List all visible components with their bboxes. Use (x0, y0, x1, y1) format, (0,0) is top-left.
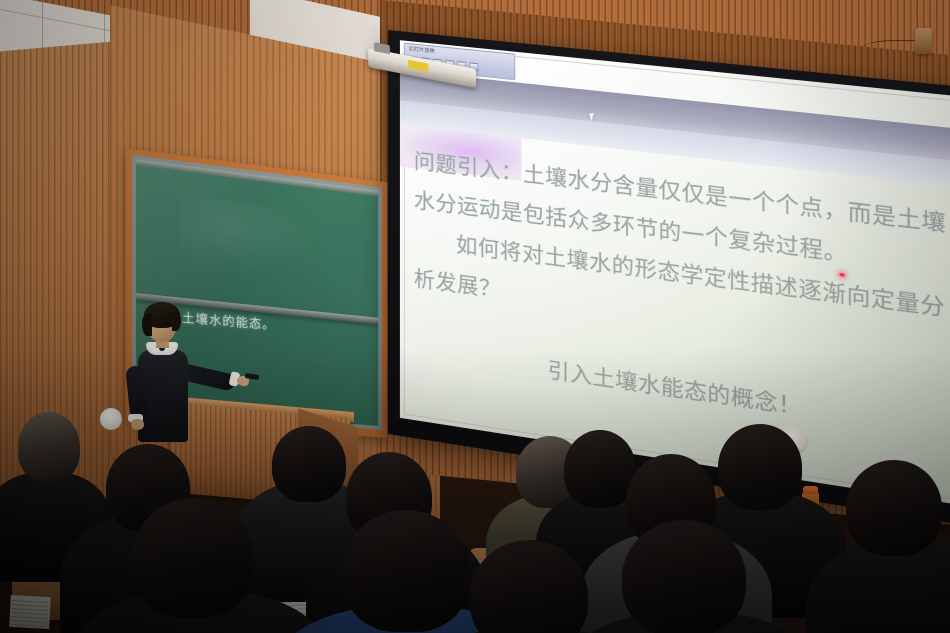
audience-member (836, 460, 950, 633)
lecturer-hair-right (172, 312, 181, 331)
attendee-head (846, 460, 942, 556)
attendee-head (470, 540, 588, 633)
slideshow-toolbar-title: 幻灯片放映 (409, 45, 435, 55)
attendee-head (622, 520, 746, 633)
projection-surface: 幻灯片放映 问题引入：土壤水分含量仅仅是一个个点，而是土壤水分运动是包括众多环节… (400, 40, 950, 508)
fixture-cable (862, 40, 918, 54)
warning-label-icon (408, 60, 428, 72)
wall-mounted-speaker-icon (915, 28, 932, 54)
lecturer-left-hand (131, 419, 144, 430)
lecturer-hair-left (142, 314, 152, 336)
classroom-scene: §3.2 土壤水的能态。 幻灯片放映 (0, 0, 950, 633)
handout-document (9, 595, 51, 629)
audience-member (112, 498, 292, 633)
document-text-lines (11, 597, 48, 627)
slide-content: 问题引入：土壤水分含量仅仅是一个个点，而是土壤水分运动是包括众多环节的一个复杂过… (400, 140, 950, 455)
attendee-head (132, 498, 254, 618)
audience-member (598, 520, 778, 633)
lecturer (118, 300, 268, 440)
roller-bracket (374, 42, 390, 54)
audience-member (440, 540, 620, 633)
chalk-smudge (181, 195, 315, 283)
attendee-head (18, 412, 80, 482)
